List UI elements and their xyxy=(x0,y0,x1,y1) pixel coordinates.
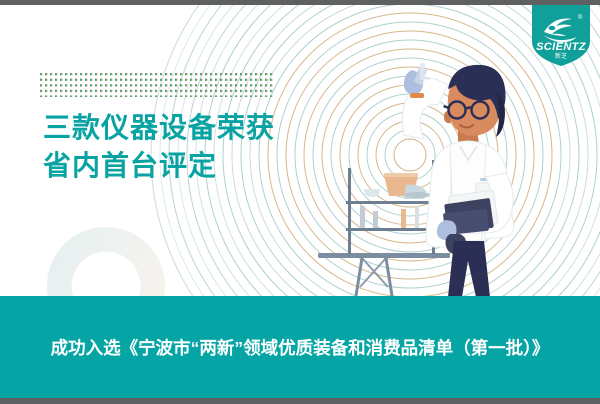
viewer-bottom-bar xyxy=(0,398,600,404)
head xyxy=(444,65,506,137)
page-title: 三款仪器设备荣获 省内首台评定 xyxy=(43,109,275,185)
bottom-banner: 成功入选《宁波市“两新”领域优质装备和消费品清单（第一批）》 xyxy=(0,296,600,398)
headline-line-1: 三款仪器设备荣获 xyxy=(43,109,275,147)
poster-canvas: 三款仪器设备荣获 省内首台评定 xyxy=(0,5,600,398)
viewer-top-bar xyxy=(0,0,600,5)
banner-text: 成功入选《宁波市“两新”领域优质装备和消费品清单（第一批）》 xyxy=(51,335,550,360)
registered-mark: ® xyxy=(578,14,583,21)
logo-brand-cn-text: 新芝 xyxy=(555,52,567,60)
scientz-logo: ® SCIENTZ 新芝 xyxy=(530,5,592,67)
scientist-figure xyxy=(402,63,513,304)
dot-grid-decoration xyxy=(40,73,275,97)
headline-line-2: 省内首台评定 xyxy=(43,147,275,185)
poster-screenshot: 三款仪器设备荣获 省内首台评定 xyxy=(0,0,600,404)
logo-brand-text: SCIENTZ xyxy=(536,41,587,53)
